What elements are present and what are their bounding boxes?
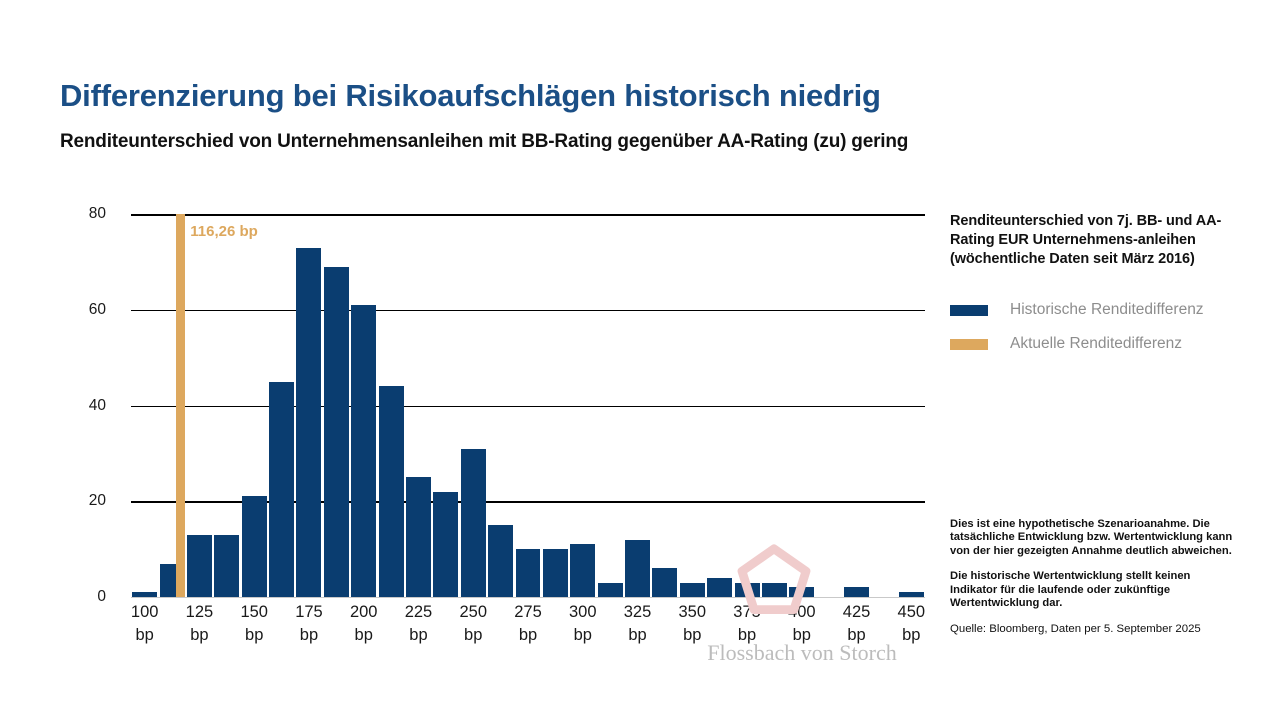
bar <box>707 578 732 597</box>
x-tick-value: 325 <box>610 601 666 624</box>
x-tick-value: 275 <box>500 601 556 624</box>
page-title: Differenzierung bei Risikoaufschlägen hi… <box>60 78 881 114</box>
bar <box>735 583 760 597</box>
x-tick-unit: bp <box>719 624 775 647</box>
bar <box>324 267 349 597</box>
legend-swatch-icon <box>950 305 988 316</box>
bar <box>570 544 595 597</box>
y-tick-label-0: 0 <box>97 588 106 606</box>
x-tick-unit: bp <box>664 624 720 647</box>
bar-series <box>131 214 925 597</box>
disclaimer-scenario: Dies ist eine hypothetische Szenarioanah… <box>950 518 1235 558</box>
x-tick-unit: bp <box>610 624 666 647</box>
bar <box>461 449 486 597</box>
legend: Historische RenditedifferenzAktuelle Ren… <box>950 293 1240 361</box>
x-tick-label-325: 325bp <box>610 601 666 647</box>
bar <box>516 549 541 597</box>
bar <box>543 549 568 597</box>
bar <box>789 587 814 597</box>
bar <box>625 540 650 597</box>
x-tick-unit: bp <box>336 624 392 647</box>
x-tick-label-400: 400bp <box>774 601 830 647</box>
x-tick-label-125: 125bp <box>171 601 227 647</box>
x-tick-label-450: 450bp <box>883 601 939 647</box>
legend-item-current[interactable]: Aktuelle Renditedifferenz <box>950 327 1240 361</box>
x-tick-value: 400 <box>774 601 830 624</box>
x-tick-label-200: 200bp <box>336 601 392 647</box>
bar <box>214 535 239 597</box>
y-tick-label-80: 80 <box>89 205 106 223</box>
x-tick-value: 425 <box>829 601 885 624</box>
x-tick-value: 100 <box>117 601 173 624</box>
series-description: Renditeunterschied von 7j. BB- und AA-Ra… <box>950 212 1240 269</box>
bar <box>844 587 869 597</box>
bar <box>680 583 705 597</box>
bar <box>652 568 677 597</box>
disclaimer-performance: Die historische Wertentwicklung stellt k… <box>950 570 1235 610</box>
x-tick-label-275: 275bp <box>500 601 556 647</box>
x-axis-baseline <box>131 597 925 598</box>
x-tick-label-250: 250bp <box>445 601 501 647</box>
bar <box>269 382 294 597</box>
x-tick-unit: bp <box>226 624 282 647</box>
bar <box>351 305 376 597</box>
x-axis: 100bp125bp150bp175bp200bp225bp250bp275bp… <box>131 601 925 661</box>
bar <box>762 583 787 597</box>
x-tick-label-225: 225bp <box>390 601 446 647</box>
legend-item-historical[interactable]: Historische Renditedifferenz <box>950 293 1240 327</box>
bar <box>242 496 267 597</box>
side-panel: Renditeunterschied von 7j. BB- und AA-Ra… <box>950 212 1240 361</box>
x-tick-label-150: 150bp <box>226 601 282 647</box>
x-tick-label-100: 100bp <box>117 601 173 647</box>
legend-label: Historische Renditedifferenz <box>1010 301 1204 319</box>
current-value-marker <box>176 214 185 597</box>
x-tick-value: 300 <box>555 601 611 624</box>
y-tick-label-20: 20 <box>89 492 106 510</box>
y-tick-label-40: 40 <box>89 397 106 415</box>
bar <box>598 583 623 597</box>
x-tick-unit: bp <box>390 624 446 647</box>
x-tick-label-375: 375bp <box>719 601 775 647</box>
x-tick-value: 350 <box>664 601 720 624</box>
legend-swatch-icon <box>950 339 988 350</box>
bar <box>488 525 513 597</box>
x-tick-label-350: 350bp <box>664 601 720 647</box>
bar <box>187 535 212 597</box>
y-axis: Anzahl der Beobachtungen (Wochen) 020406… <box>0 214 120 597</box>
x-tick-unit: bp <box>883 624 939 647</box>
legend-label: Aktuelle Renditedifferenz <box>1010 335 1182 353</box>
x-tick-label-425: 425bp <box>829 601 885 647</box>
footnotes: Dies ist eine hypothetische Szenarioanah… <box>950 518 1235 636</box>
x-tick-value: 250 <box>445 601 501 624</box>
x-tick-value: 200 <box>336 601 392 624</box>
x-tick-unit: bp <box>117 624 173 647</box>
x-tick-unit: bp <box>500 624 556 647</box>
x-tick-value: 175 <box>281 601 337 624</box>
y-tick-label-60: 60 <box>89 301 106 319</box>
x-tick-value: 125 <box>171 601 227 624</box>
page-subtitle: Renditeunterschied von Unternehmensanlei… <box>60 131 908 153</box>
x-tick-value: 150 <box>226 601 282 624</box>
x-tick-label-175: 175bp <box>281 601 337 647</box>
x-tick-value: 225 <box>390 601 446 624</box>
bar <box>406 477 431 597</box>
x-tick-unit: bp <box>281 624 337 647</box>
bar <box>296 248 321 597</box>
x-tick-label-300: 300bp <box>555 601 611 647</box>
source-line: Quelle: Bloomberg, Daten per 5. Septembe… <box>950 622 1235 636</box>
x-tick-value: 450 <box>883 601 939 624</box>
x-tick-unit: bp <box>171 624 227 647</box>
current-value-label: 116,26 bp <box>190 223 258 240</box>
x-tick-unit: bp <box>774 624 830 647</box>
plot-area: Flossbach von Storch <box>131 214 925 597</box>
bar <box>379 386 404 597</box>
x-tick-unit: bp <box>829 624 885 647</box>
chart-page: Differenzierung bei Risikoaufschlägen hi… <box>0 0 1280 720</box>
x-tick-unit: bp <box>555 624 611 647</box>
x-tick-unit: bp <box>445 624 501 647</box>
x-tick-value: 375 <box>719 601 775 624</box>
bar <box>433 492 458 597</box>
